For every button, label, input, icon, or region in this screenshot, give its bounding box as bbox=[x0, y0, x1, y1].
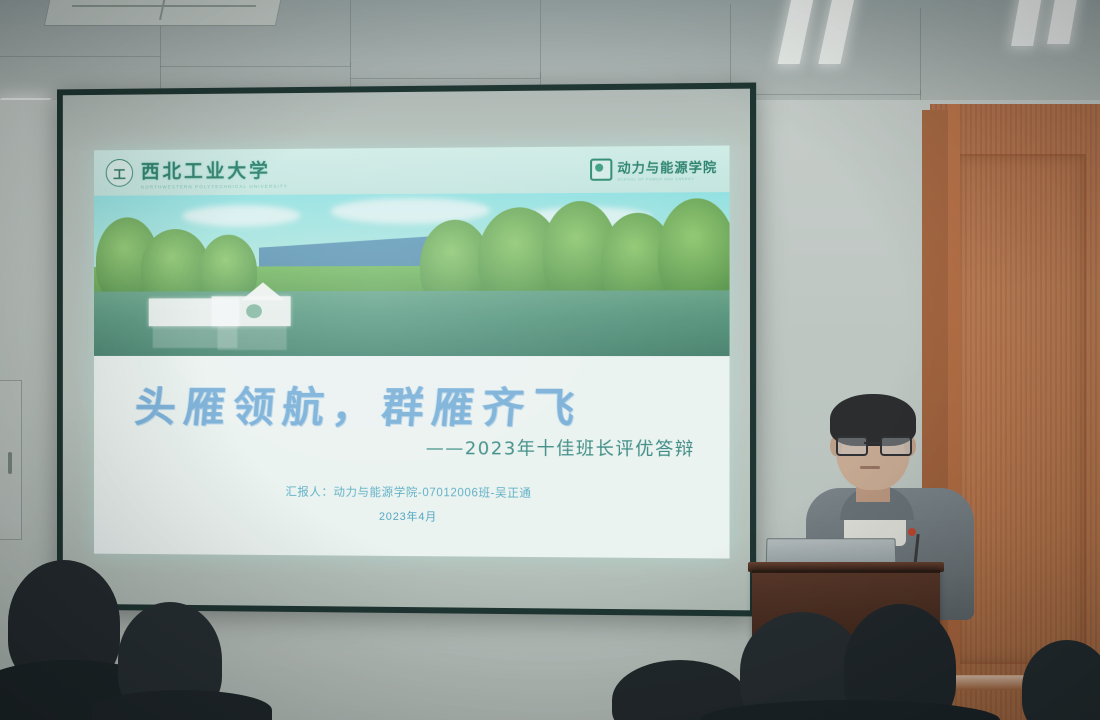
presenter-mouth bbox=[860, 466, 880, 469]
slide-header-bar: 工 西北工业大学 NORTHWESTERN POLYTECHNICAL UNIV… bbox=[94, 146, 730, 196]
presentation-slide: 工 西北工业大学 NORTHWESTERN POLYTECHNICAL UNIV… bbox=[94, 146, 730, 559]
college-name: 动力与能源学院 bbox=[617, 160, 717, 176]
college-mark-icon bbox=[590, 159, 612, 181]
screen-blank-top bbox=[63, 89, 750, 151]
slide-presenter-line: 汇报人：动力与能源学院-07012006班-吴正通 bbox=[94, 482, 730, 501]
panel-handle bbox=[8, 452, 12, 474]
eyeglasses-icon bbox=[836, 436, 910, 452]
ceiling-vent bbox=[44, 0, 285, 26]
slide-sub-title: ——2023年十佳班长评优答辩 bbox=[426, 434, 695, 461]
lecture-hall-photo: 工 西北工业大学 NORTHWESTERN POLYTECHNICAL UNIV… bbox=[0, 0, 1100, 720]
projection-screen-frame: 工 西北工业大学 NORTHWESTERN POLYTECHNICAL UNIV… bbox=[57, 83, 756, 617]
lapel-pin-icon bbox=[908, 528, 916, 536]
university-name-en: NORTHWESTERN POLYTECHNICAL UNIVERSITY bbox=[141, 183, 288, 189]
slide-date-line: 2023年4月 bbox=[94, 506, 730, 526]
college-logo: 动力与能源学院 SCHOOL OF POWER AND ENERGY bbox=[590, 157, 717, 182]
projection-screen-surface: 工 西北工业大学 NORTHWESTERN POLYTECHNICAL UNIV… bbox=[63, 89, 750, 611]
slide-campus-photo bbox=[94, 192, 730, 356]
university-seal-icon: 工 bbox=[106, 159, 133, 187]
university-logo: 工 西北工业大学 NORTHWESTERN POLYTECHNICAL UNIV… bbox=[106, 155, 288, 189]
slide-main-title: 头雁领航，群雁齐飞 bbox=[132, 374, 677, 436]
university-name: 西北工业大学 bbox=[141, 159, 271, 182]
college-name-en: SCHOOL OF POWER AND ENERGY bbox=[617, 177, 717, 182]
slide-text-body: 头雁领航，群雁齐飞 ——2023年十佳班长评优答辩 汇报人：动力与能源学院-07… bbox=[94, 356, 730, 559]
